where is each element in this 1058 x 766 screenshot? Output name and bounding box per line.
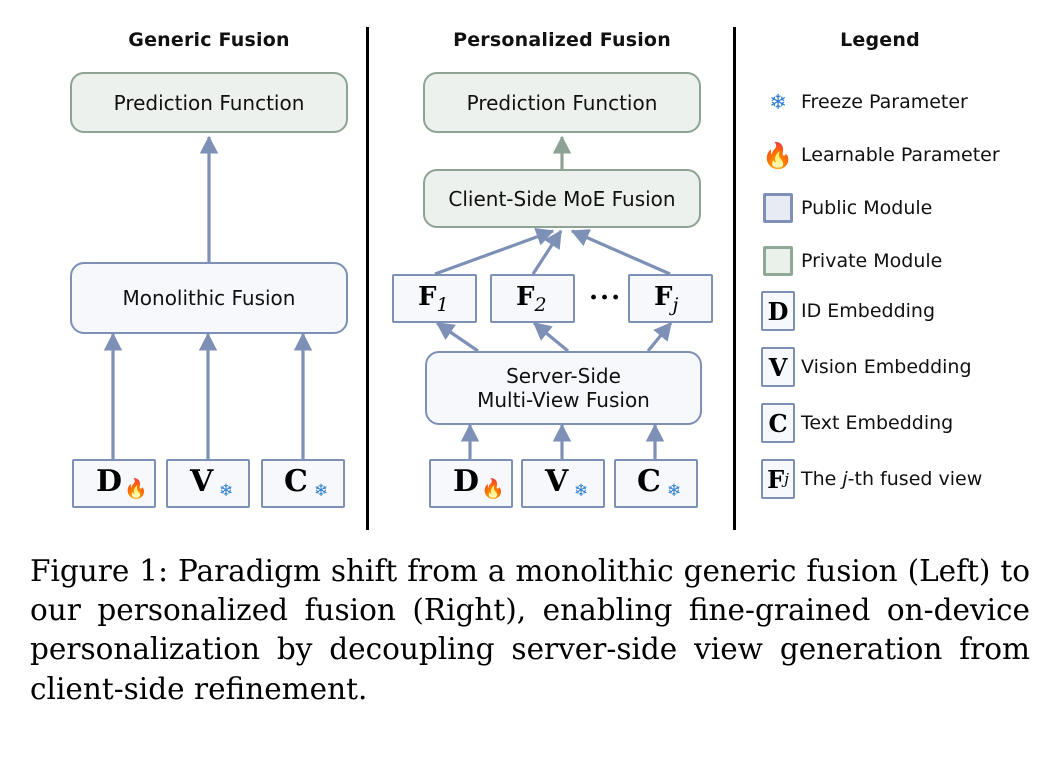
flame-icon: 🔥 [755, 143, 801, 168]
panel-title-personalized-fusion: Personalized Fusion [423, 29, 701, 51]
panel-divider-right [733, 27, 736, 530]
legend-item-id-embedding: D ID Embedding [755, 289, 935, 333]
server-side-multi-view-fusion-box: Server-Side Multi-View Fusion [425, 351, 702, 425]
legend-label-id-embedding: ID Embedding [801, 300, 935, 322]
panel-divider-left [366, 27, 369, 530]
snowflake-icon: ❄ [314, 483, 328, 500]
fused-view-label-j: Fj [654, 282, 678, 316]
figure-1: Generic Fusion Prediction Function Monol… [0, 0, 1058, 766]
personalized-vision-embedding-letter: V [545, 464, 568, 499]
client-side-moe-fusion-box: Client-Side MoE Fusion [423, 169, 701, 228]
text-embedding-box-icon: C [755, 403, 801, 443]
legend-item-freeze-parameter: ❄ Freeze Parameter [755, 80, 968, 124]
snowflake-icon: ❄ [755, 92, 801, 113]
server-side-fusion-label-line2: Multi-View Fusion [477, 388, 650, 412]
legend-item-text-embedding: C Text Embedding [755, 401, 953, 445]
legend-item-public-module: Public Module [755, 186, 932, 230]
figure-caption: Figure 1: Paradigm shift from a monolith… [30, 552, 1030, 709]
snowflake-icon: ❄ [574, 483, 588, 500]
flame-icon: 🔥 [481, 480, 505, 499]
text-embedding-box: C [761, 403, 795, 443]
personalized-text-embedding-letter: C [637, 464, 661, 499]
vision-embedding-box-icon: V [755, 347, 801, 387]
generic-vision-embedding-letter: V [190, 464, 213, 499]
public-module-swatch [763, 193, 793, 223]
legend-label-vision-embedding: Vision Embedding [801, 356, 972, 378]
generic-text-embedding-letter: C [284, 464, 308, 499]
private-module-swatch-icon [755, 246, 801, 276]
legend-item-private-module: Private Module [755, 239, 942, 283]
generic-id-embedding-letter: D [96, 464, 122, 499]
fused-view-box-icon: Fj [755, 459, 801, 499]
generic-prediction-function-label: Prediction Function [114, 91, 305, 115]
legend-item-vision-embedding: V Vision Embedding [755, 345, 972, 389]
legend-label-learnable-parameter: Learnable Parameter [801, 144, 1000, 166]
personalized-prediction-function-label: Prediction Function [467, 91, 658, 115]
fused-view-box: Fj [761, 459, 795, 499]
legend-label-private-module: Private Module [801, 250, 942, 272]
monolithic-fusion-box: Monolithic Fusion [70, 262, 348, 334]
flame-icon: 🔥 [124, 480, 148, 499]
client-side-moe-fusion-label: Client-Side MoE Fusion [448, 187, 675, 211]
legend-label-text-embedding: Text Embedding [801, 412, 953, 434]
fused-view-ellipsis: ··· [589, 283, 622, 313]
legend-label-public-module: Public Module [801, 197, 932, 219]
legend-label-fused-view: The j-th fused view [801, 468, 982, 490]
id-embedding-box: D [761, 291, 795, 331]
public-module-swatch-icon [755, 193, 801, 223]
vision-embedding-box: V [761, 347, 795, 387]
legend-item-learnable-parameter: 🔥 Learnable Parameter [755, 133, 1000, 177]
personalized-id-embedding-letter: D [453, 464, 479, 499]
legend-label-freeze-parameter: Freeze Parameter [801, 91, 968, 113]
fused-view-label-2: F2 [516, 282, 547, 316]
snowflake-icon: ❄ [219, 483, 233, 500]
legend-item-fused-view: Fj The j-th fused view [755, 457, 982, 501]
snowflake-icon: ❄ [667, 483, 681, 500]
private-module-swatch [763, 246, 793, 276]
id-embedding-box-icon: D [755, 291, 801, 331]
server-side-fusion-label-line1: Server-Side [506, 364, 621, 388]
fused-view-label-1: F1 [418, 282, 449, 316]
personalized-prediction-function-box: Prediction Function [423, 72, 701, 133]
monolithic-fusion-label: Monolithic Fusion [123, 286, 296, 310]
generic-prediction-function-box: Prediction Function [70, 72, 348, 133]
panel-title-generic-fusion: Generic Fusion [70, 29, 348, 51]
panel-title-legend: Legend [755, 29, 1005, 51]
